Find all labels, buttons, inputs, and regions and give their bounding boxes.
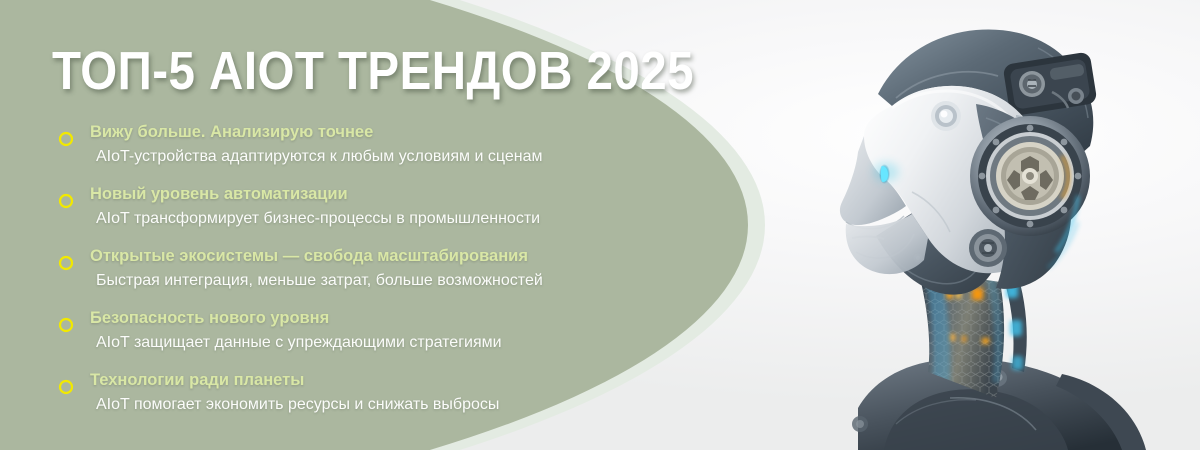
trend-description: AIoT трансформирует бизнес-процессы в пр… bbox=[96, 208, 700, 229]
aiot-trends-banner: ТОП-5 AIOT ТРЕНДОВ 2025 Вижу больше. Ана… bbox=[0, 0, 1200, 450]
circle-outline-icon bbox=[58, 193, 74, 209]
trends-list: Вижу больше. Анализирую точнее AIoT-устр… bbox=[0, 122, 700, 432]
robot-artwork bbox=[800, 0, 1200, 450]
circle-outline-icon bbox=[58, 379, 74, 395]
circle-outline-icon bbox=[58, 255, 74, 271]
circle-outline-icon bbox=[58, 131, 74, 147]
content-column: ТОП-5 AIOT ТРЕНДОВ 2025 Вижу больше. Ана… bbox=[0, 0, 700, 450]
list-item: Открытые экосистемы — свобода масштабиро… bbox=[0, 246, 700, 308]
trend-description: Быстрая интеграция, меньше затрат, больш… bbox=[96, 270, 700, 291]
list-item: Безопасность нового уровня AIoT защищает… bbox=[0, 308, 700, 370]
trend-title: Безопасность нового уровня bbox=[90, 308, 700, 329]
trend-title: Вижу больше. Анализирую точнее bbox=[90, 122, 700, 143]
list-item: Новый уровень автоматизации AIoT трансфо… bbox=[0, 184, 700, 246]
list-item: Вижу больше. Анализирую точнее AIoT-устр… bbox=[0, 122, 700, 184]
page-title: ТОП-5 AIOT ТРЕНДОВ 2025 bbox=[52, 42, 694, 100]
list-item: Технологии ради планеты AIoT помогает эк… bbox=[0, 370, 700, 432]
circle-outline-icon bbox=[58, 317, 74, 333]
trend-title: Новый уровень автоматизации bbox=[90, 184, 700, 205]
trend-description: AIoT помогает экономить ресурсы и снижат… bbox=[96, 394, 700, 415]
trend-description: AIoT-устройства адаптируются к любым усл… bbox=[96, 146, 700, 167]
trend-title: Открытые экосистемы — свобода масштабиро… bbox=[90, 246, 700, 267]
trend-title: Технологии ради планеты bbox=[90, 370, 700, 391]
trend-description: AIoT защищает данные с упреждающими стра… bbox=[96, 332, 700, 353]
